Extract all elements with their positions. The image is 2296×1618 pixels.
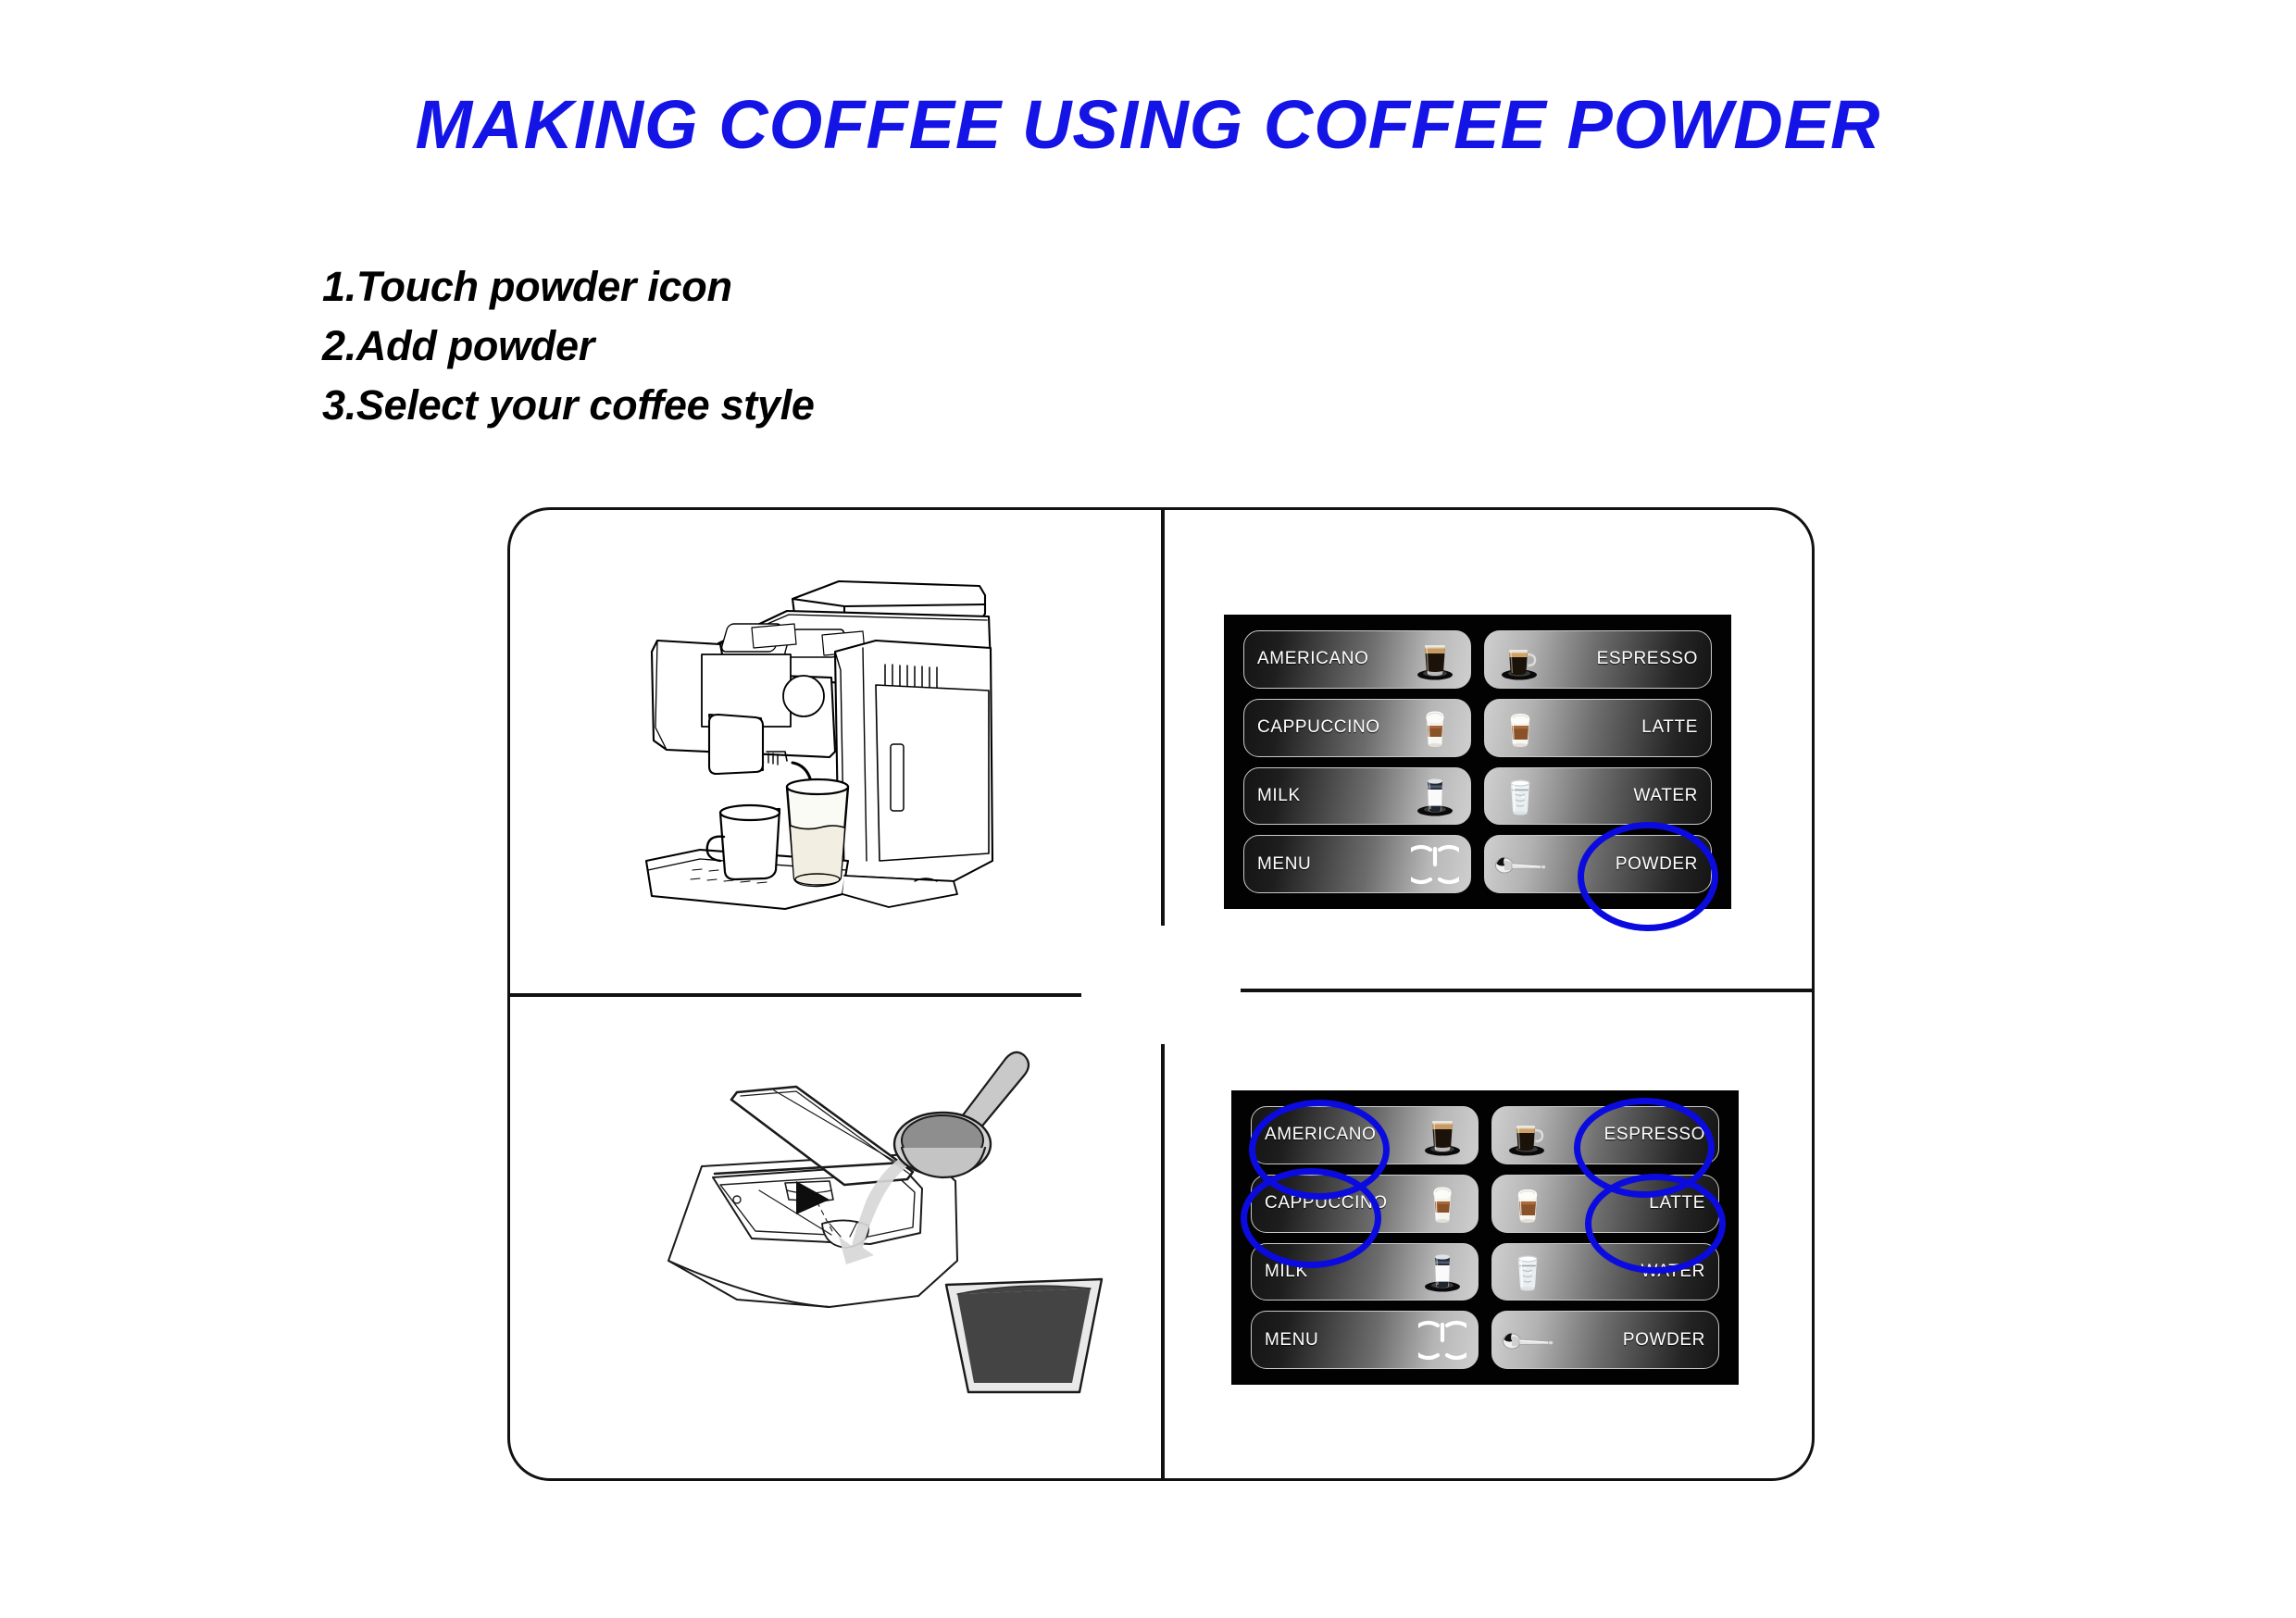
button-americano[interactable]: AMERICANO <box>1251 1106 1479 1164</box>
instruction-step-3: 3.Select your coffee style <box>322 376 815 435</box>
power-menu-icon <box>1416 1314 1468 1366</box>
frame-divider-vertical-top <box>1161 509 1165 926</box>
button-espresso[interactable]: ESPRESSO <box>1491 1106 1719 1164</box>
button-label: ESPRESSO <box>1604 1125 1705 1145</box>
button-label: LATTE <box>1641 717 1698 738</box>
add-powder-illustration <box>648 1018 1129 1425</box>
button-cappuccino[interactable]: CAPPUCCINO <box>1243 699 1471 757</box>
button-latte[interactable]: LATTE <box>1491 1175 1719 1233</box>
espresso-cup-icon <box>1494 633 1546 685</box>
instruction-list: 1.Touch powder icon 2.Add powder 3.Selec… <box>322 257 815 435</box>
americano-glass-icon <box>1409 633 1461 685</box>
button-americano[interactable]: AMERICANO <box>1243 630 1471 689</box>
button-label: MILK <box>1257 786 1301 806</box>
latte-glass-icon <box>1502 1177 1554 1229</box>
button-label: WATER <box>1641 1262 1706 1282</box>
button-label: MENU <box>1257 854 1311 875</box>
power-menu-icon <box>1409 839 1461 890</box>
button-menu[interactable]: MENU <box>1243 835 1471 893</box>
button-cappuccino[interactable]: CAPPUCCINO <box>1251 1175 1479 1233</box>
button-label: LATTE <box>1649 1193 1705 1213</box>
control-panel-top[interactable]: AMERICANO ESPRESSO CAPPUCCINO <box>1224 615 1731 909</box>
button-label: AMERICANO <box>1265 1125 1376 1145</box>
button-latte[interactable]: LATTE <box>1484 699 1712 757</box>
page-title: MAKING COFFEE USING COFFEE POWDER <box>0 85 2296 164</box>
water-glass-icon <box>1494 770 1546 822</box>
button-label: AMERICANO <box>1257 649 1368 669</box>
button-powder[interactable]: POWDER <box>1484 835 1712 893</box>
button-label: MILK <box>1265 1262 1308 1282</box>
instruction-step-2: 2.Add powder <box>322 317 815 376</box>
button-label: CAPPUCCINO <box>1257 717 1380 738</box>
button-powder[interactable]: POWDER <box>1491 1311 1719 1369</box>
instruction-step-1: 1.Touch powder icon <box>322 257 815 317</box>
cappuccino-glass-icon <box>1409 702 1461 753</box>
button-milk[interactable]: MILK <box>1251 1243 1479 1301</box>
cappuccino-glass-icon <box>1416 1177 1468 1229</box>
espresso-cup-icon <box>1502 1109 1554 1161</box>
frame-divider-vertical-bottom <box>1161 1044 1165 1481</box>
powder-spoon-icon <box>1494 839 1546 890</box>
milk-glass-icon <box>1409 770 1461 822</box>
button-label: WATER <box>1634 786 1699 806</box>
button-label: ESPRESSO <box>1597 649 1698 669</box>
powder-spoon-icon <box>1502 1314 1554 1366</box>
control-panel-bottom[interactable]: AMERICANO ESPRESSO CAPPUCCINO <box>1231 1090 1739 1385</box>
button-label: CAPPUCCINO <box>1265 1193 1388 1213</box>
button-label: MENU <box>1265 1330 1318 1350</box>
button-water[interactable]: WATER <box>1484 767 1712 826</box>
button-menu[interactable]: MENU <box>1251 1311 1479 1369</box>
button-label: POWDER <box>1623 1330 1705 1350</box>
milk-glass-icon <box>1416 1246 1468 1298</box>
button-label: POWDER <box>1616 854 1698 875</box>
water-glass-icon <box>1502 1246 1554 1298</box>
frame-divider-horizontal-left <box>507 993 1081 997</box>
coffee-machine-illustration <box>611 555 1000 944</box>
americano-glass-icon <box>1416 1109 1468 1161</box>
latte-glass-icon <box>1494 702 1546 753</box>
button-milk[interactable]: MILK <box>1243 767 1471 826</box>
button-espresso[interactable]: ESPRESSO <box>1484 630 1712 689</box>
button-water[interactable]: WATER <box>1491 1243 1719 1301</box>
frame-divider-horizontal-right <box>1241 989 1815 992</box>
